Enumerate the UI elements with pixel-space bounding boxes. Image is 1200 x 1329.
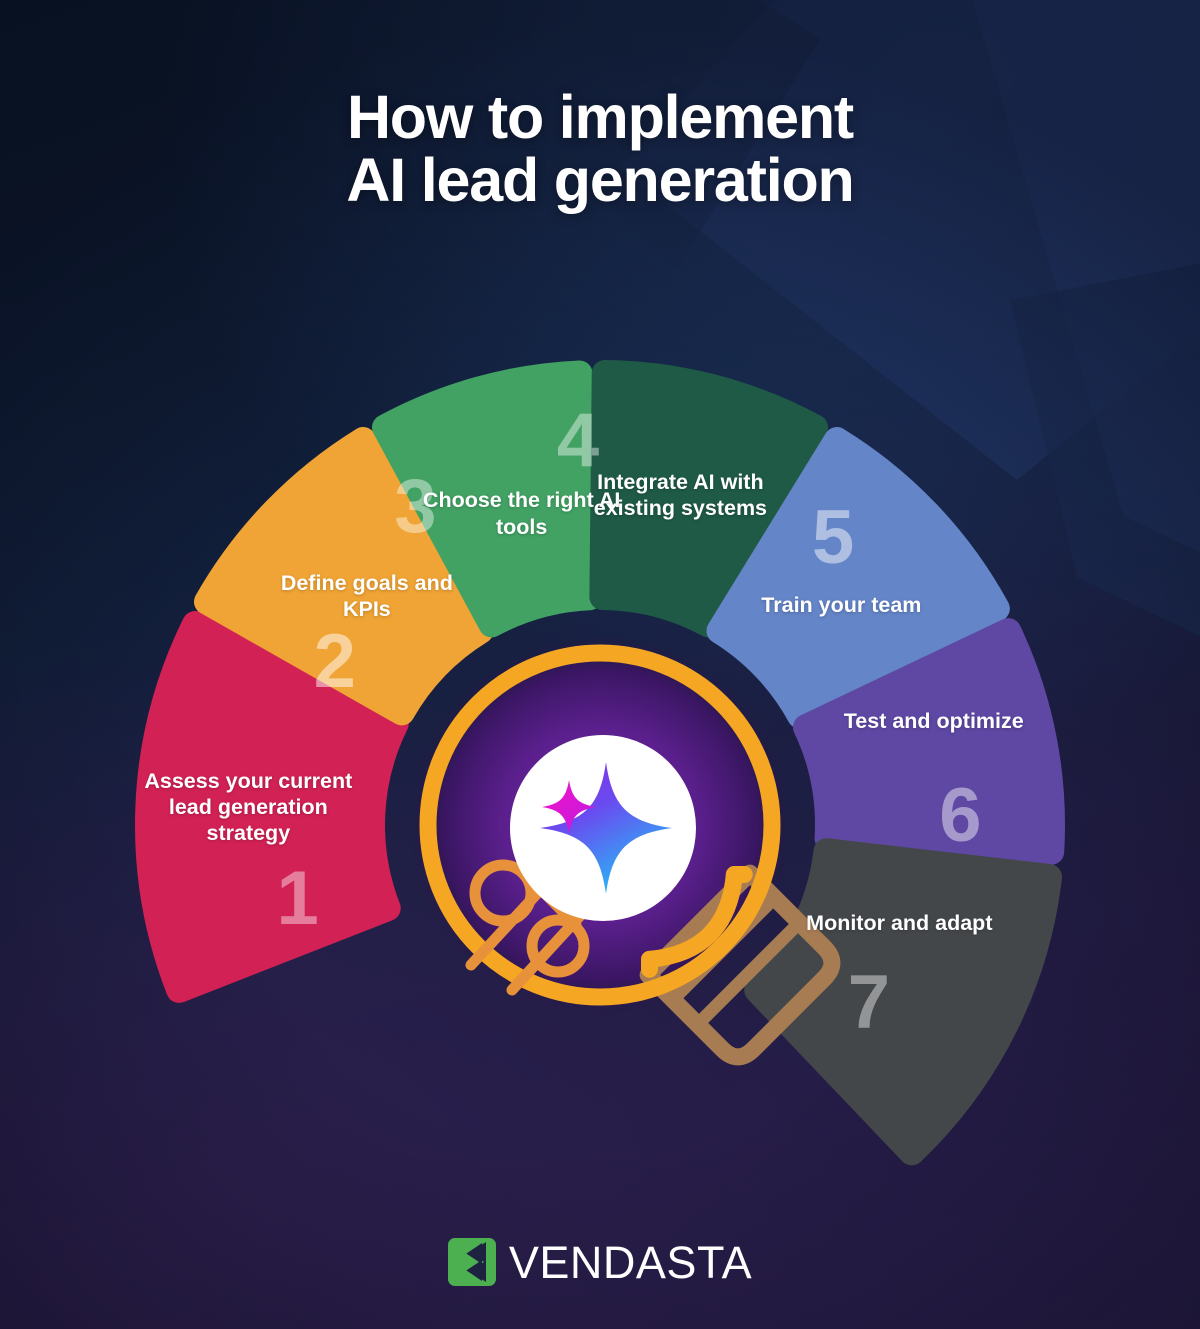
page-title: How to implement AI lead generation — [0, 86, 1200, 212]
vendasta-logo-mark — [448, 1238, 496, 1286]
page-title-line-1: How to implement — [0, 86, 1200, 149]
page-title-line-2: AI lead generation — [0, 149, 1200, 212]
brand-name: VENDASTA — [509, 1240, 752, 1285]
brand-footer: VENDASTA — [0, 1238, 1200, 1286]
infographic-canvas: How to implement AI lead generation Asse… — [0, 0, 1200, 1329]
